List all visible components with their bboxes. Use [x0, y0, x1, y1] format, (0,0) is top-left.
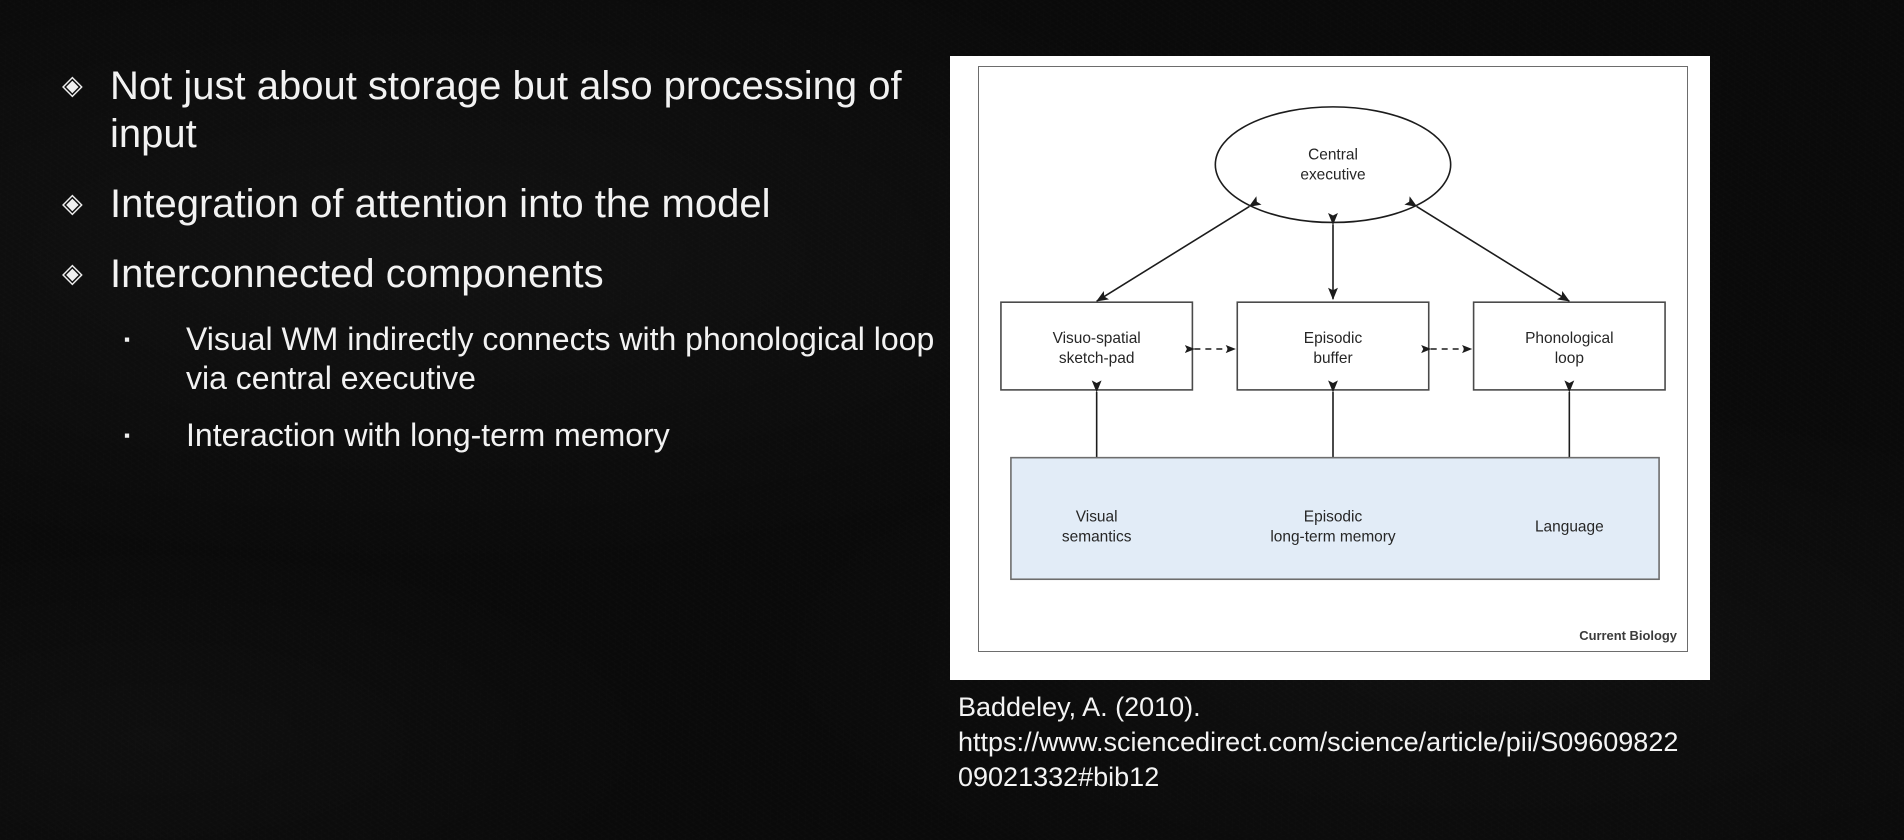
working-memory-model-diagram: Central executive Visuo-spatial sketch-p…: [979, 67, 1687, 651]
bullet-item-3-text: Interconnected components: [110, 250, 942, 298]
bullet-item-2: ◈ Integration of attention into the mode…: [62, 180, 942, 228]
arrow-ce-phonological-loop: [1417, 207, 1570, 302]
bullet-list: ◈ Not just about storage but also proces…: [62, 62, 942, 475]
citation-line-author: Baddeley, A. (2010).: [958, 690, 1888, 725]
visual-semantics-label-line1: Visual: [1076, 508, 1118, 525]
diamond-bullet-icon: ◈: [62, 250, 110, 296]
sub-bullet-item-2-text: Interaction with long-term memory: [186, 416, 942, 455]
diagram-svg: Central executive Visuo-spatial sketch-p…: [979, 67, 1687, 651]
episodic-buffer-label-line1: Episodic: [1304, 330, 1363, 347]
square-bullet-icon: ▪: [124, 320, 186, 361]
diamond-bullet-icon: ◈: [62, 180, 110, 226]
figure-image: Central executive Visuo-spatial sketch-p…: [950, 56, 1710, 680]
bullet-item-3: ◈ Interconnected components: [62, 250, 942, 298]
figure-citation: Baddeley, A. (2010). https://www.science…: [958, 690, 1888, 795]
phonological-label-line1: Phonological: [1525, 330, 1613, 347]
arrow-ce-visuospatial: [1097, 207, 1250, 302]
episodic-buffer-label-line2: buffer: [1313, 350, 1352, 367]
sub-bullet-item-1: ▪ Visual WM indirectly connects with pho…: [124, 320, 942, 398]
bullet-item-1: ◈ Not just about storage but also proces…: [62, 62, 942, 158]
episodic-ltm-label-line1: Episodic: [1304, 508, 1363, 525]
central-executive-label-line1: Central: [1308, 147, 1358, 164]
central-executive-node: [1215, 107, 1450, 223]
visuospatial-label-line2: sketch-pad: [1059, 350, 1135, 367]
phonological-label-line2: loop: [1555, 350, 1584, 367]
episodic-ltm-label-line2: long-term memory: [1270, 528, 1396, 545]
visual-semantics-label-line2: semantics: [1062, 528, 1132, 545]
visuospatial-label-line1: Visuo-spatial: [1053, 330, 1141, 347]
language-label: Language: [1535, 518, 1604, 535]
sub-bullet-item-1-text: Visual WM indirectly connects with phono…: [186, 320, 942, 398]
citation-line-url-1[interactable]: https://www.sciencedirect.com/science/ar…: [958, 725, 1888, 760]
square-bullet-icon: ▪: [124, 416, 186, 457]
bullet-item-2-text: Integration of attention into the model: [110, 180, 942, 228]
sub-bullet-item-2: ▪ Interaction with long-term memory: [124, 416, 942, 457]
slide: ◈ Not just about storage but also proces…: [0, 0, 1904, 840]
diamond-bullet-icon: ◈: [62, 62, 110, 108]
citation-line-url-2[interactable]: 09021332#bib12: [958, 760, 1888, 795]
figure-credit: Current Biology: [1579, 628, 1678, 643]
figure-border: Central executive Visuo-spatial sketch-p…: [978, 66, 1688, 652]
bullet-item-1-text: Not just about storage but also processi…: [110, 62, 942, 158]
central-executive-label-line2: executive: [1300, 167, 1365, 184]
